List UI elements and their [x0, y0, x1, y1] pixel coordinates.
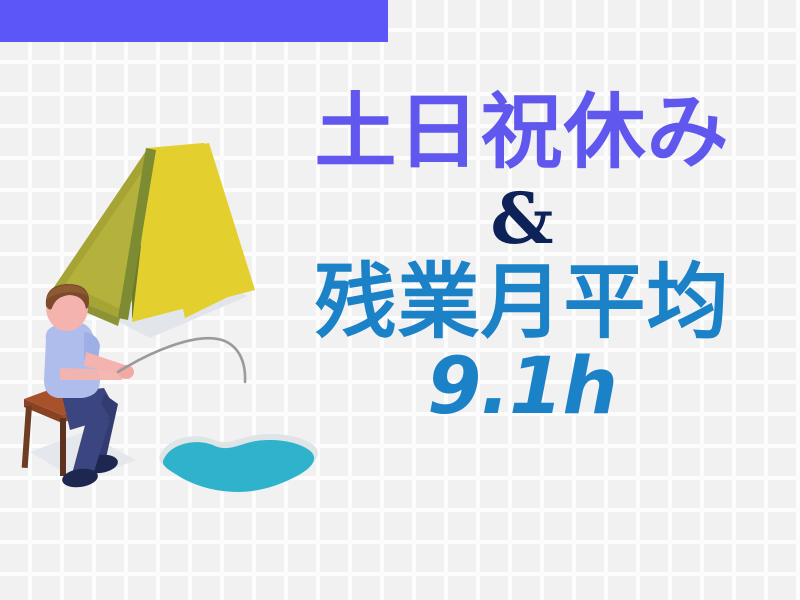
- headline-connector: &: [262, 184, 782, 254]
- headline-block: 土日祝休み & 残業月平均 9.1h: [262, 92, 782, 426]
- promo-banner: 土日祝休み & 残業月平均 9.1h: [0, 0, 800, 600]
- headline-value: 9.1h: [262, 348, 782, 426]
- fishing-rod-icon: [118, 338, 245, 382]
- headline-line-2: 残業月平均: [262, 262, 782, 344]
- pond-icon: [159, 434, 317, 492]
- headline-line-1: 土日祝休み: [262, 92, 782, 174]
